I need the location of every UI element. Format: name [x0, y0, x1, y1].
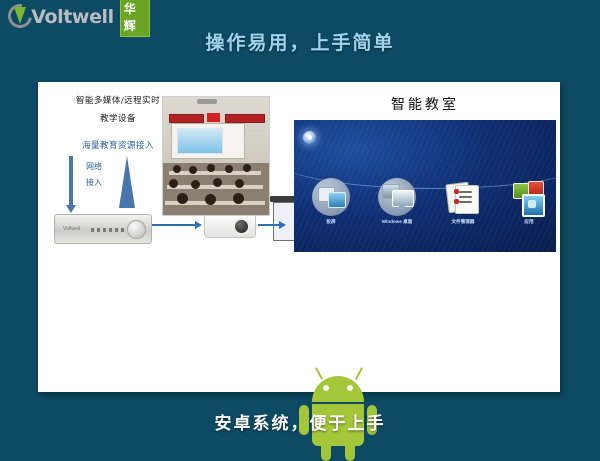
- arrow-projector-to-screen: [258, 224, 280, 226]
- brand-wordmark: Voltwell: [31, 6, 114, 28]
- uplink-cone: [119, 156, 135, 208]
- app-tile-file-manager[interactable]: 文件管理器: [444, 178, 482, 246]
- app-label: Windows 桌面: [378, 219, 416, 225]
- screen-cast-icon: [312, 178, 350, 216]
- power-orb-icon[interactable]: [303, 131, 316, 144]
- classroom-photo: [162, 96, 270, 216]
- applications-icon: [510, 178, 548, 216]
- diagram-network-label-2: 接入: [86, 177, 102, 188]
- downlink-arrow: [69, 156, 73, 206]
- content-card: 智能多媒体/远程实时 教学设备 海量教育资源接入 网络 接入 Voltwell: [38, 82, 560, 392]
- flag-decor: [207, 113, 220, 122]
- projector-lens-icon: [233, 218, 250, 235]
- app-tile-applications[interactable]: 应用: [510, 178, 548, 246]
- app-label: 文件管理器: [444, 219, 482, 225]
- ceiling-projector: [197, 99, 217, 104]
- smart-classroom-title: 智能教室: [294, 94, 556, 114]
- app-label: 应用: [510, 219, 548, 225]
- app-tile-windows-desktop[interactable]: Windows 桌面: [378, 178, 416, 246]
- arrow-host-to-projector: [152, 224, 196, 226]
- slide-root: { "brand": { "logo_word": "Voltwell", "l…: [0, 0, 600, 450]
- file-manager-icon: [444, 178, 482, 216]
- app-launcher-row: 投屏 Windows 桌面: [294, 178, 556, 246]
- device-brand-label: Voltwell: [63, 226, 80, 232]
- app-tile-screen-cast[interactable]: 投屏: [312, 178, 350, 246]
- voltwell-check-ring-icon: [8, 4, 30, 30]
- slide-title: 操作易用，上手简单: [0, 28, 600, 55]
- device-leds: [91, 228, 125, 232]
- control-host-device: Voltwell: [54, 214, 152, 244]
- app-label: 投屏: [312, 219, 350, 225]
- smart-classroom-panel: 投屏 Windows 桌面: [294, 120, 556, 252]
- footer-caption: 安卓系统，便于上手: [0, 409, 600, 434]
- windows-desktop-icon: [378, 178, 416, 216]
- diagram-network-label-1: 网络: [86, 161, 102, 172]
- smart-classroom-screenshot: 智能教室 投屏: [294, 86, 556, 256]
- device-knob: [127, 220, 146, 239]
